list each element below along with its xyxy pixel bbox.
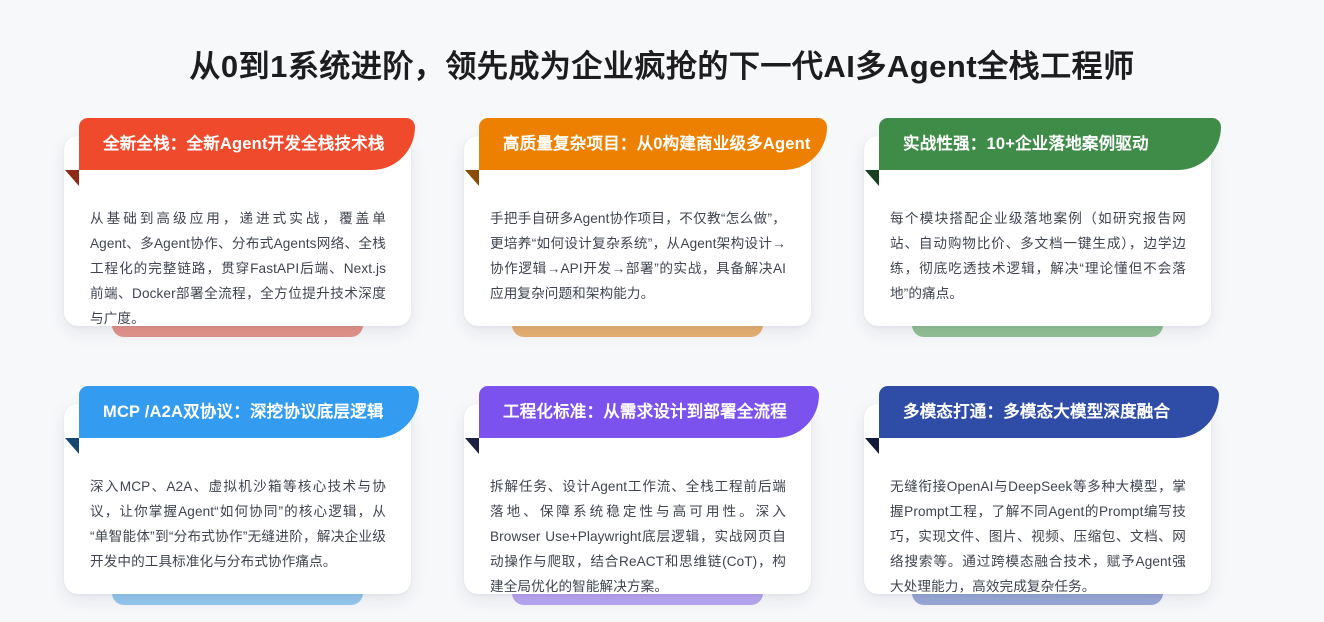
page-title: 从0到1系统进阶，领先成为企业疯抢的下一代AI多Agent全栈工程师 bbox=[0, 47, 1324, 87]
feature-card[interactable]: 全新全栈：全新Agent开发全栈技术栈 从基础到高级应用，递进式实战，覆盖单Ag… bbox=[64, 118, 411, 326]
card-heading: 工程化标准：从需求设计到部署全流程 bbox=[503, 404, 787, 421]
card-header-ribbon: 实战性强：10+企业落地案例驱动 bbox=[879, 118, 1221, 170]
card-description: 无缝衔接OpenAI与DeepSeek等多种大模型，掌握Prompt工程，了解不… bbox=[890, 474, 1186, 599]
feature-card[interactable]: 多模态打通：多模态大模型深度融合 无缝衔接OpenAI与DeepSeek等多种大… bbox=[864, 386, 1211, 594]
card-header-ribbon: 全新全栈：全新Agent开发全栈技术栈 bbox=[79, 118, 415, 170]
feature-card[interactable]: MCP /A2A双协议：深挖协议底层逻辑 深入MCP、A2A、虚拟机沙箱等核心技… bbox=[64, 386, 411, 594]
card-description: 深入MCP、A2A、虚拟机沙箱等核心技术与协议，让你掌握Agent“如何协同”的… bbox=[90, 474, 386, 574]
card-header-ribbon: 多模态打通：多模态大模型深度融合 bbox=[879, 386, 1219, 438]
card-heading: 全新全栈：全新Agent开发全栈技术栈 bbox=[103, 136, 385, 153]
card-heading: 多模态打通：多模态大模型深度融合 bbox=[903, 404, 1170, 421]
card-heading: 实战性强：10+企业落地案例驱动 bbox=[903, 136, 1149, 153]
feature-card-grid: 全新全栈：全新Agent开发全栈技术栈 从基础到高级应用，递进式实战，覆盖单Ag… bbox=[64, 118, 1260, 594]
feature-card[interactable]: 工程化标准：从需求设计到部署全流程 拆解任务、设计Agent工作流、全栈工程前后… bbox=[464, 386, 811, 594]
card-header-ribbon: MCP /A2A双协议：深挖协议底层逻辑 bbox=[79, 386, 419, 438]
card-description: 手把手自研多Agent协作项目，不仅教“怎么做”，更培养“如何设计复杂系统”，从… bbox=[490, 206, 786, 306]
card-description: 拆解任务、设计Agent工作流、全栈工程前后端落地、保障系统稳定性与高可用性。深… bbox=[490, 474, 786, 599]
card-header-ribbon: 高质量复杂项目：从0构建商业级多Agent bbox=[479, 118, 827, 170]
card-description: 每个模块搭配企业级落地案例（如研究报告网站、自动购物比价、多文档一键生成），边学… bbox=[890, 206, 1186, 306]
card-heading: 高质量复杂项目：从0构建商业级多Agent bbox=[503, 136, 811, 153]
card-heading: MCP /A2A双协议：深挖协议底层逻辑 bbox=[103, 404, 384, 421]
feature-card[interactable]: 高质量复杂项目：从0构建商业级多Agent 手把手自研多Agent协作项目，不仅… bbox=[464, 118, 811, 326]
card-description: 从基础到高级应用，递进式实战，覆盖单Agent、多Agent协作、分布式Agen… bbox=[90, 206, 386, 331]
card-header-ribbon: 工程化标准：从需求设计到部署全流程 bbox=[479, 386, 819, 438]
feature-card[interactable]: 实战性强：10+企业落地案例驱动 每个模块搭配企业级落地案例（如研究报告网站、自… bbox=[864, 118, 1211, 326]
